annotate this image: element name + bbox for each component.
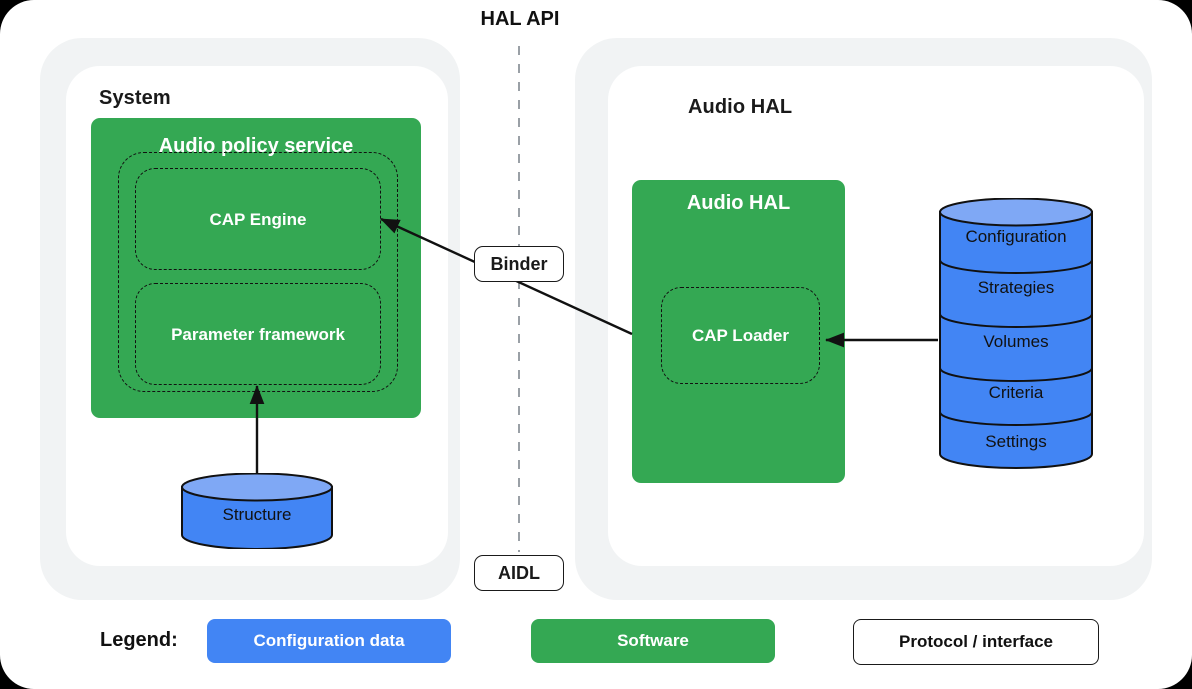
right-group-caption: Audio HAL xyxy=(688,96,792,119)
cap-engine-module[interactable]: CAP Engine xyxy=(135,168,381,270)
legend-item-configuration-data[interactable]: Configuration data xyxy=(207,619,451,663)
diagram-title: HAL API xyxy=(420,8,620,31)
config-cylinder-shape xyxy=(938,198,1094,470)
left-group-caption: System xyxy=(99,87,171,110)
legend: Legend: Configuration data Software Prot… xyxy=(0,619,1192,665)
diagram-canvas: HAL API System Audio policy service CAP … xyxy=(0,0,1192,689)
legend-title: Legend: xyxy=(100,629,178,652)
legend-item-protocol-interface[interactable]: Protocol / interface xyxy=(853,619,1099,665)
config-datastore[interactable]: Configuration Strategies Volumes Criteri… xyxy=(938,198,1094,470)
interface-pill-aidl[interactable]: AIDL xyxy=(474,555,564,591)
legend-item-software[interactable]: Software xyxy=(531,619,775,663)
structure-datastore[interactable]: Structure xyxy=(181,473,333,549)
cap-loader-label: CAP Loader xyxy=(662,326,819,346)
cap-loader-module[interactable]: CAP Loader xyxy=(661,287,820,384)
parameter-framework-module[interactable]: Parameter framework xyxy=(135,283,381,385)
cap-engine-label: CAP Engine xyxy=(136,210,380,230)
interface-pill-binder[interactable]: Binder xyxy=(474,246,564,282)
audio-hal-title: Audio HAL xyxy=(632,192,845,215)
parameter-framework-label: Parameter framework xyxy=(136,325,380,345)
structure-cylinder-shape xyxy=(181,473,333,549)
